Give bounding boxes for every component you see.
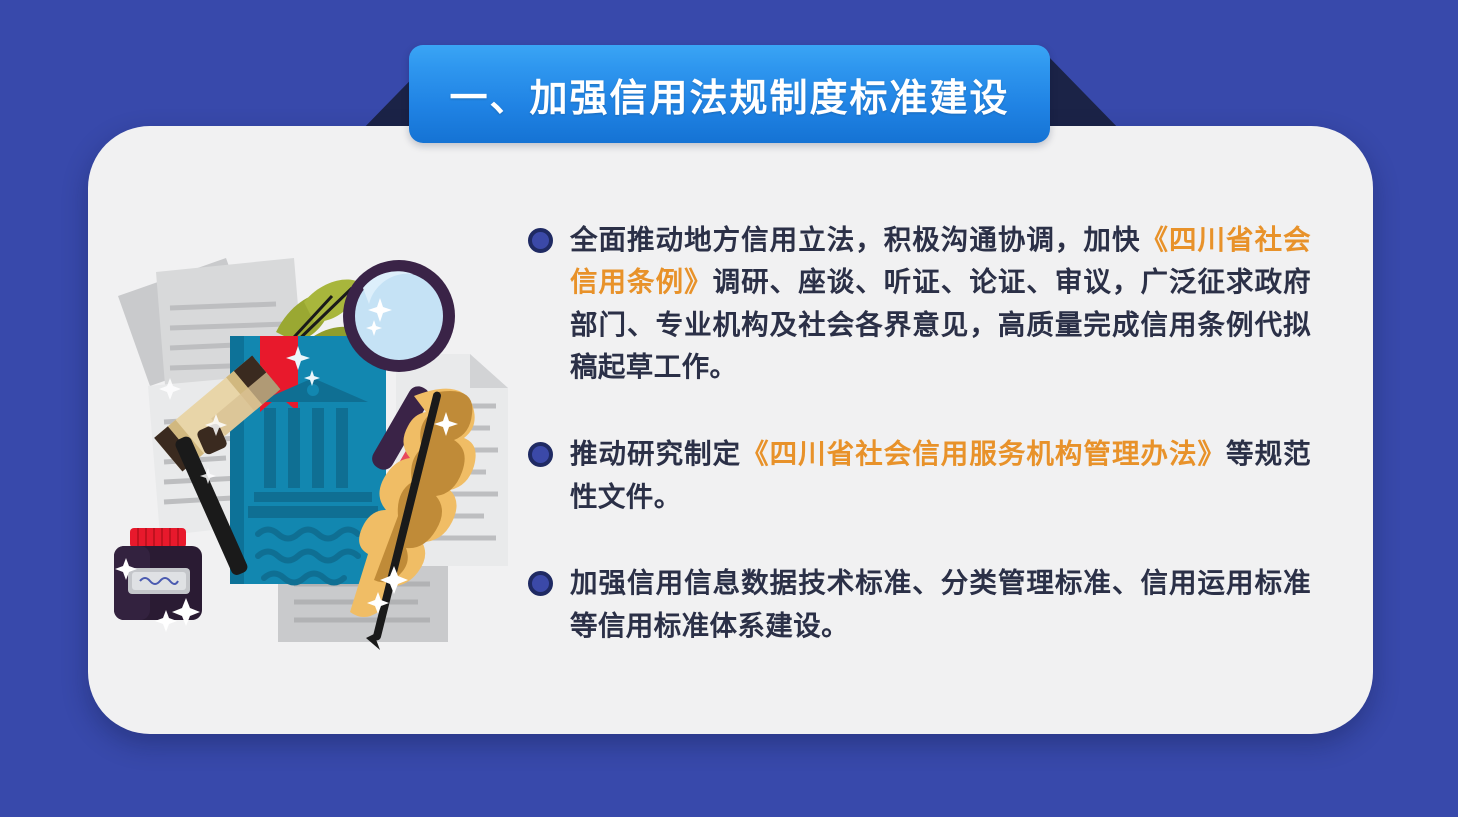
illustration-container: [88, 126, 528, 734]
list-item: 全面推动地方信用立法，积极沟通协调，加快《四川省社会信用条例》调研、座谈、听证、…: [528, 219, 1311, 390]
filled-circle-bullet-icon: [528, 228, 553, 253]
banner-right-wing: [1046, 54, 1124, 134]
filled-circle-bullet-icon: [528, 442, 553, 467]
filled-circle-bullet-icon: [528, 571, 553, 596]
bullet-1-seg-0: 全面推动地方信用立法，积极沟通协调，加快: [570, 224, 1140, 255]
slide-root: 一、加强信用法规制度标准建设: [0, 0, 1458, 817]
bullet-list: 全面推动地方信用立法，积极沟通协调，加快《四川省社会信用条例》调研、座谈、听证、…: [528, 213, 1373, 648]
bullet-text-1: 全面推动地方信用立法，积极沟通协调，加快《四川省社会信用条例》调研、座谈、听证、…: [570, 219, 1311, 390]
bullet-2-seg-1: 《四川省社会信用服务机构管理办法》: [741, 438, 1226, 469]
bullet-2-seg-0: 推动研究制定: [570, 438, 741, 469]
bullet-3-seg-0: 加强信用信息数据技术标准、分类管理标准、信用运用标准等信用标准体系建设。: [570, 567, 1311, 641]
list-item: 推动研究制定《四川省社会信用服务机构管理办法》等规范性文件。: [528, 433, 1311, 518]
section-title-text: 一、加强信用法规制度标准建设: [449, 67, 1009, 122]
bullet-text-2: 推动研究制定《四川省社会信用服务机构管理办法》等规范性文件。: [570, 433, 1311, 518]
section-title-banner: 一、加强信用法规制度标准建设: [409, 45, 1050, 143]
ink-bottle-icon: [114, 528, 202, 632]
bullet-text-3: 加强信用信息数据技术标准、分类管理标准、信用运用标准等信用标准体系建设。: [570, 562, 1311, 647]
legal-documents-illustration: [108, 236, 528, 656]
card-content: 全面推动地方信用立法，积极沟通协调，加快《四川省社会信用条例》调研、座谈、听证、…: [88, 126, 1373, 734]
list-item: 加强信用信息数据技术标准、分类管理标准、信用运用标准等信用标准体系建设。: [528, 562, 1311, 647]
